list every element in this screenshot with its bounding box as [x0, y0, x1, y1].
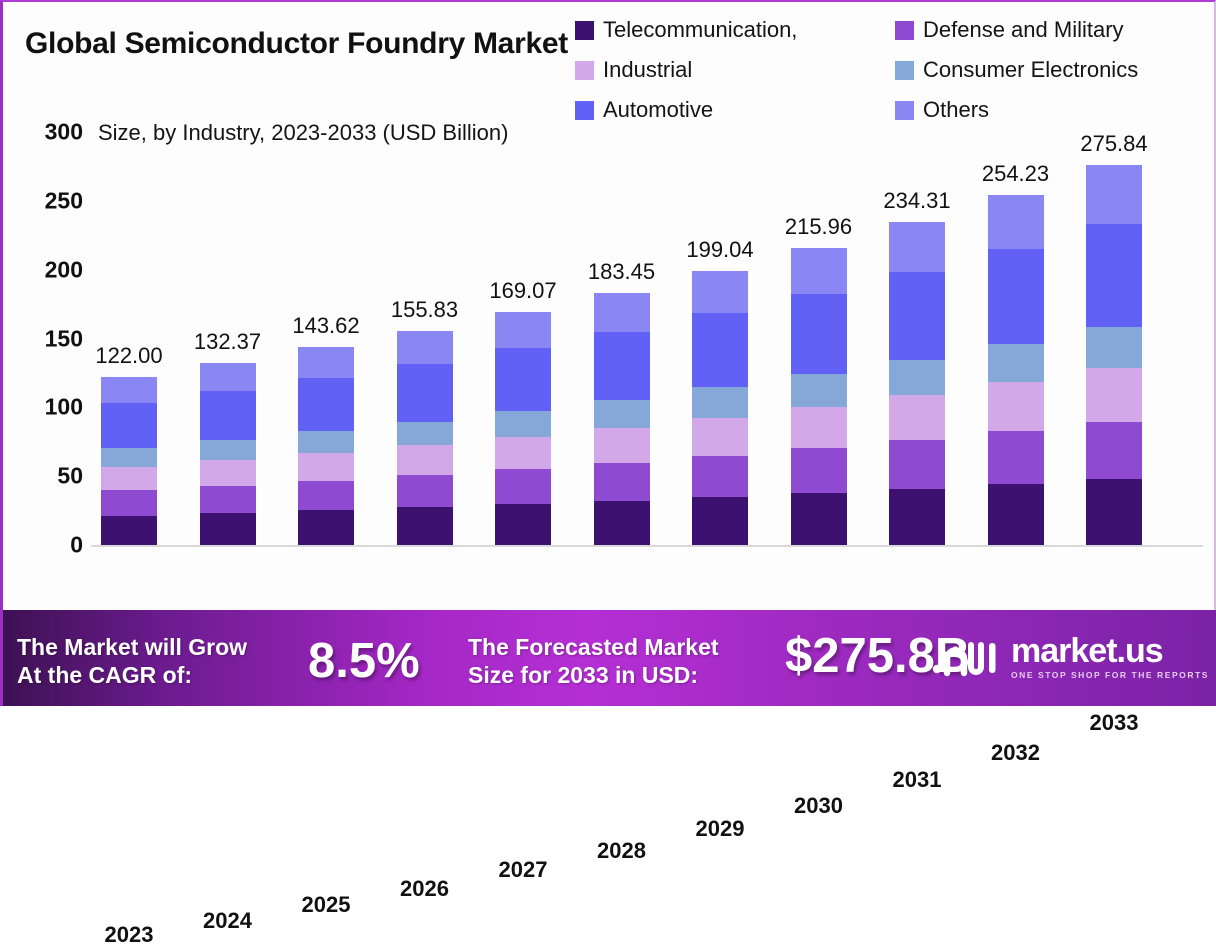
- x-axis-label-2025: 2025: [302, 892, 351, 918]
- bar-segment[interactable]: [397, 507, 453, 545]
- bar-segment[interactable]: [298, 510, 354, 545]
- bar-segment[interactable]: [1086, 327, 1142, 369]
- bar-segment[interactable]: [101, 448, 157, 466]
- cagr-caption: The Market will GrowAt the CAGR of:: [17, 633, 247, 689]
- bar-segment[interactable]: [495, 348, 551, 411]
- bar-segment[interactable]: [101, 467, 157, 491]
- bar-segment[interactable]: [791, 248, 847, 294]
- bar-segment[interactable]: [889, 222, 945, 272]
- bar-segment[interactable]: [791, 374, 847, 407]
- bar-segment[interactable]: [988, 344, 1044, 383]
- infographic-root: Global Semiconductor Foundry Market Tele…: [0, 0, 1216, 706]
- bar-segment[interactable]: [1086, 422, 1142, 479]
- x-axis-label-2032: 2032: [991, 740, 1040, 766]
- bar-segment[interactable]: [889, 360, 945, 396]
- y-axis-tick: 100: [45, 394, 83, 421]
- bar-group-2033[interactable]: 275.842033: [1086, 165, 1142, 545]
- bar-total-label: 215.96: [785, 214, 852, 240]
- bar-segment[interactable]: [594, 463, 650, 501]
- bar-segment[interactable]: [495, 504, 551, 545]
- bar-total-label: 199.04: [686, 237, 753, 263]
- bar-total-label: 132.37: [194, 329, 261, 355]
- x-axis-label-2033: 2033: [1090, 710, 1139, 736]
- bar-segment[interactable]: [594, 332, 650, 400]
- bar-segment[interactable]: [298, 431, 354, 453]
- x-axis-label-2026: 2026: [400, 876, 449, 902]
- bar-group-2032[interactable]: 254.232032: [988, 195, 1044, 545]
- bar-group-2024[interactable]: 132.372024: [200, 363, 256, 545]
- bar-segment[interactable]: [692, 418, 748, 456]
- bar-total-label: 275.84: [1080, 131, 1147, 157]
- bar-segment[interactable]: [298, 378, 354, 431]
- logo-name: market.us: [1011, 634, 1209, 668]
- bar-segment[interactable]: [200, 486, 256, 513]
- bar-group-2030[interactable]: 215.962030: [791, 248, 847, 545]
- logo-tagline: ONE STOP SHOP FOR THE REPORTS: [1011, 671, 1209, 680]
- bar-segment[interactable]: [692, 313, 748, 387]
- bar-segment[interactable]: [495, 437, 551, 470]
- bar-group-2029[interactable]: 199.042029: [692, 271, 748, 545]
- bar-segment[interactable]: [889, 489, 945, 545]
- bar-segment[interactable]: [1086, 165, 1142, 224]
- bar-segment[interactable]: [397, 475, 453, 507]
- bar-segment[interactable]: [200, 440, 256, 460]
- bar-segment[interactable]: [692, 271, 748, 313]
- bar-segment[interactable]: [495, 312, 551, 348]
- bar-segment[interactable]: [298, 453, 354, 481]
- bar-segment[interactable]: [988, 382, 1044, 431]
- bar-segment[interactable]: [988, 249, 1044, 343]
- bar-segment[interactable]: [200, 363, 256, 391]
- bar-segment[interactable]: [397, 364, 453, 422]
- x-axis-label-2031: 2031: [893, 767, 942, 793]
- bar-group-2023[interactable]: 122.002023: [101, 377, 157, 545]
- bar-group-2031[interactable]: 234.312031: [889, 222, 945, 545]
- market-us-logo-text: market.us ONE STOP SHOP FOR THE REPORTS: [1011, 634, 1209, 680]
- cagr-value: 8.5%: [308, 633, 420, 689]
- bar-segment[interactable]: [1086, 224, 1142, 327]
- bar-segment[interactable]: [988, 431, 1044, 483]
- bar-group-2028[interactable]: 183.452028: [594, 293, 650, 545]
- bar-segment[interactable]: [791, 294, 847, 374]
- y-axis-tick: 50: [57, 463, 83, 490]
- bar-group-2025[interactable]: 143.622025: [298, 347, 354, 545]
- chart-plot-area: Size, by Industry, 2023-2033 (USD Billio…: [3, 2, 1216, 602]
- y-axis: 050100150200250300: [17, 2, 83, 602]
- y-axis-tick: 0: [70, 532, 83, 559]
- bar-total-label: 169.07: [489, 278, 556, 304]
- bar-segment[interactable]: [298, 347, 354, 378]
- bar-segment[interactable]: [101, 490, 157, 515]
- bar-segment[interactable]: [101, 403, 157, 448]
- x-axis-label-2030: 2030: [794, 793, 843, 819]
- bottom-banner: The Market will GrowAt the CAGR of: 8.5%…: [3, 610, 1216, 706]
- x-axis-label-2027: 2027: [499, 857, 548, 883]
- bar-segment[interactable]: [988, 195, 1044, 249]
- bar-segment[interactable]: [791, 448, 847, 493]
- x-axis-label-2028: 2028: [597, 838, 646, 864]
- bar-segment[interactable]: [1086, 368, 1142, 421]
- bar-segment[interactable]: [200, 513, 256, 545]
- bar-total-label: 143.62: [292, 313, 359, 339]
- bar-group-2026[interactable]: 155.832026: [397, 331, 453, 545]
- bar-segment[interactable]: [200, 391, 256, 440]
- bar-segment[interactable]: [594, 400, 650, 428]
- bar-segment[interactable]: [791, 493, 847, 545]
- bar-segment[interactable]: [692, 456, 748, 497]
- bar-segment[interactable]: [594, 428, 650, 463]
- bar-total-label: 254.23: [982, 161, 1049, 187]
- market-us-logo-mark: [930, 637, 1004, 677]
- bar-segment[interactable]: [594, 293, 650, 332]
- bar-segment[interactable]: [495, 411, 551, 437]
- bar-segment[interactable]: [594, 501, 650, 545]
- bar-segment[interactable]: [397, 331, 453, 364]
- bar-segment[interactable]: [692, 387, 748, 417]
- bar-group-2027[interactable]: 169.072027: [495, 312, 551, 545]
- bar-segment[interactable]: [101, 516, 157, 545]
- x-axis-label-2024: 2024: [203, 908, 252, 934]
- bar-total-label: 234.31: [883, 188, 950, 214]
- bar-series-container: 122.002023132.372024143.622025155.832026…: [95, 2, 1205, 602]
- bar-segment[interactable]: [889, 272, 945, 359]
- bar-segment[interactable]: [889, 395, 945, 440]
- bar-total-label: 155.83: [391, 297, 458, 323]
- market-us-logo[interactable]: market.us ONE STOP SHOP FOR THE REPORTS: [930, 634, 1209, 680]
- bar-segment[interactable]: [298, 481, 354, 511]
- y-axis-tick: 200: [45, 256, 83, 283]
- bar-segment[interactable]: [889, 440, 945, 488]
- bar-segment[interactable]: [495, 469, 551, 504]
- bar-segment[interactable]: [200, 460, 256, 485]
- bar-total-label: 183.45: [588, 259, 655, 285]
- bar-total-label: 122.00: [95, 343, 162, 369]
- bar-segment[interactable]: [692, 497, 748, 545]
- bar-segment[interactable]: [101, 377, 157, 403]
- bar-segment[interactable]: [397, 422, 453, 446]
- x-axis-label-2023: 2023: [105, 922, 154, 948]
- forecast-caption: The Forecasted MarketSize for 2033 in US…: [468, 633, 719, 689]
- bar-segment[interactable]: [988, 484, 1044, 545]
- y-axis-tick: 150: [45, 325, 83, 352]
- x-axis-label-2029: 2029: [696, 816, 745, 842]
- y-axis-tick: 300: [45, 119, 83, 146]
- y-axis-tick: 250: [45, 187, 83, 214]
- bar-segment[interactable]: [791, 407, 847, 449]
- bar-segment[interactable]: [397, 445, 453, 475]
- bar-segment[interactable]: [1086, 479, 1142, 545]
